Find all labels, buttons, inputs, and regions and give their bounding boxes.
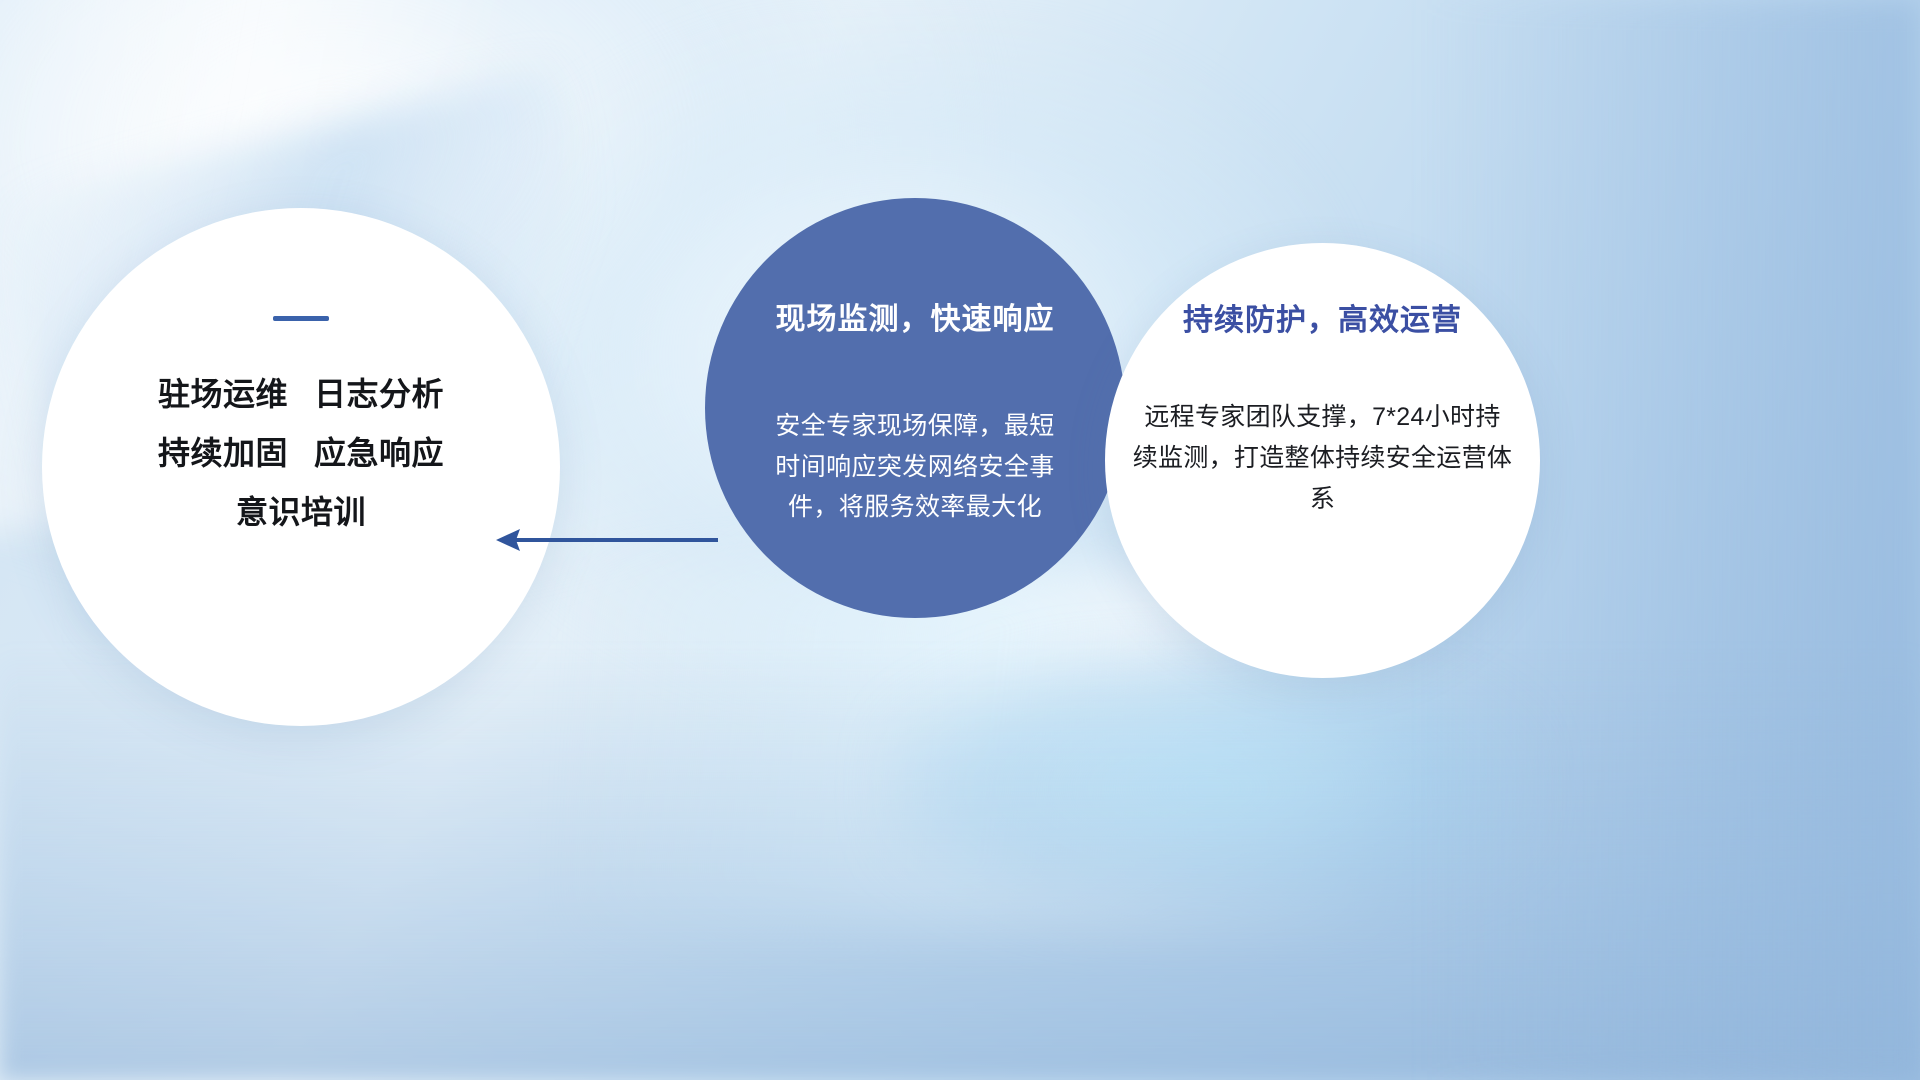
right-circle-content: 持续防护，高效运营 远程专家团队支撑，7*24小时持续监测，打造整体持续安全运营…	[1105, 243, 1540, 678]
slide-canvas: 驻场运维日志分析 持续加固应急响应 意识培训 现场监测，快速响应 安全专家现场保…	[0, 0, 1920, 1080]
left-keyword-circle: 驻场运维日志分析 持续加固应急响应 意识培训	[42, 208, 560, 726]
middle-circle-content: 现场监测，快速响应 安全专家现场保障，最短时间响应突发网络安全事件，将服务效率最…	[705, 198, 1125, 618]
keyword-row: 驻场运维日志分析	[158, 365, 444, 424]
left-circle-content: 驻场运维日志分析 持续加固应急响应 意识培训	[42, 208, 560, 726]
right-circle-title: 持续防护，高效运营	[1183, 295, 1462, 339]
keyword-row: 持续加固应急响应	[158, 424, 444, 483]
middle-circle-body: 安全专家现场保障，最短时间响应突发网络安全事件，将服务效率最大化	[765, 406, 1065, 528]
connector-arrow-left	[490, 520, 720, 560]
keyword-row: 意识培训	[158, 483, 444, 542]
keyword-item: 应急响应	[314, 435, 444, 471]
right-circle-body: 远程专家团队支撑，7*24小时持续监测，打造整体持续安全运营体系	[1133, 397, 1513, 520]
arrow-left-icon	[490, 520, 720, 560]
keyword-item: 驻场运维	[158, 376, 288, 412]
keyword-item: 持续加固	[158, 435, 288, 471]
keyword-item: 日志分析	[314, 376, 444, 412]
right-feature-circle: 持续防护，高效运营 远程专家团队支撑，7*24小时持续监测，打造整体持续安全运营…	[1105, 243, 1540, 678]
middle-circle-title: 现场监测，快速响应	[776, 294, 1055, 338]
divider-dash	[273, 316, 329, 321]
middle-feature-circle: 现场监测，快速响应 安全专家现场保障，最短时间响应突发网络安全事件，将服务效率最…	[705, 198, 1125, 618]
left-keyword-list: 驻场运维日志分析 持续加固应急响应 意识培训	[158, 365, 444, 542]
keyword-item: 意识培训	[236, 494, 366, 530]
